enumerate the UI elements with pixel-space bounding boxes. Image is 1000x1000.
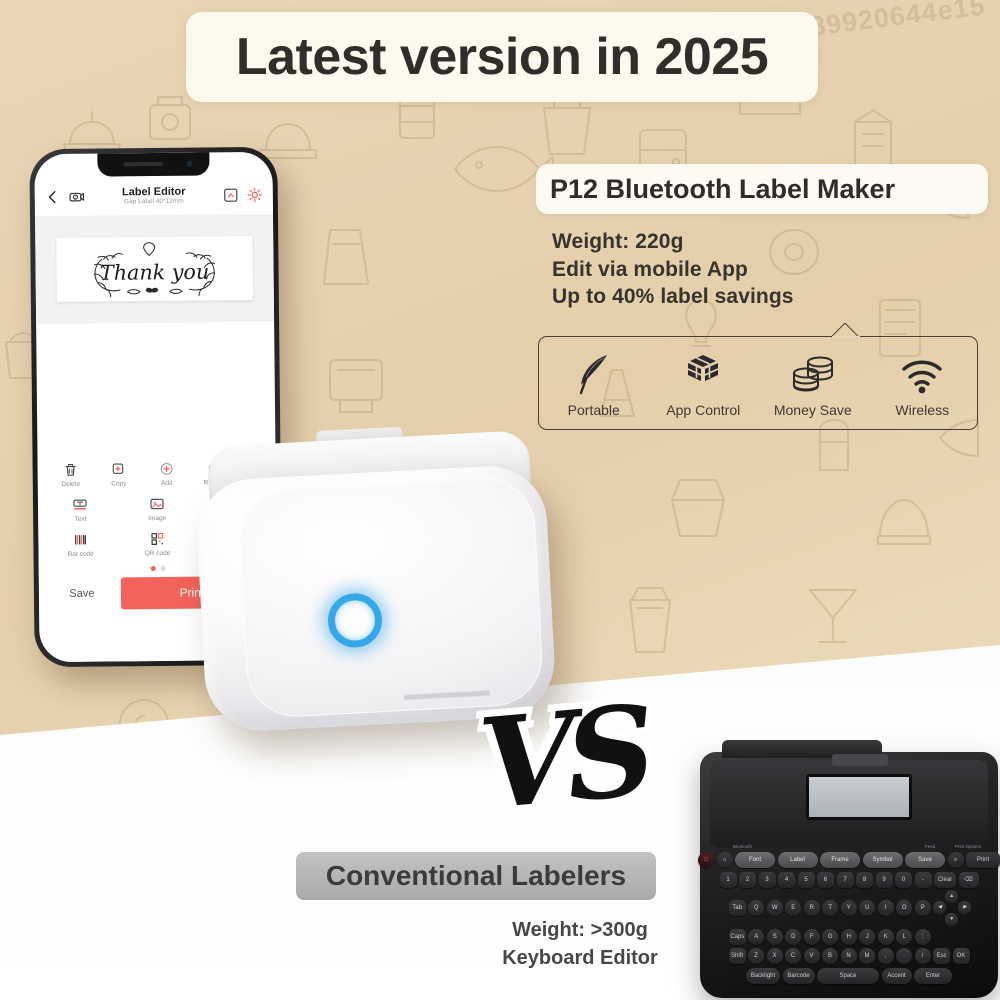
kb-micro-labels: Bluetooth Feed Print Options — [707, 844, 991, 852]
key-print[interactable]: Print — [966, 852, 1000, 868]
tool-delete[interactable]: Delete — [48, 462, 94, 488]
tool-label: Add — [161, 480, 173, 487]
headline-text: Latest version in 2025 — [236, 27, 768, 87]
kb-row-q: Tab Q W E R T Y U I O P ▲ ◀ ▶ ▼ — [707, 891, 991, 925]
plus-circle-icon — [159, 461, 175, 477]
key-num[interactable]: 0 — [895, 872, 912, 888]
key-letter[interactable]: A — [748, 929, 764, 945]
image-icon — [149, 496, 165, 512]
feature-box-notch — [831, 323, 861, 338]
key-letter[interactable]: H — [841, 929, 857, 945]
trash-icon — [63, 462, 79, 478]
text-icon — [72, 497, 88, 513]
spec-item: Edit via mobile App — [552, 256, 982, 284]
key-backlight[interactable]: Backlight — [746, 968, 780, 984]
key-caps[interactable]: Caps — [729, 929, 746, 945]
down-arrow-icon[interactable]: ▼ — [945, 913, 958, 926]
conventional-spec-item: Keyboard Editor — [420, 944, 740, 972]
phone-notch — [97, 152, 209, 176]
up-arrow-icon[interactable]: ▲ — [945, 890, 958, 903]
wifi-icon — [900, 349, 944, 395]
app-title-block: Label Editor Gap Label 40*12mm — [85, 185, 223, 206]
kb-row-a: Caps A S D F G H J K L : — [707, 929, 991, 945]
feature-money-save: Money Save — [759, 349, 867, 418]
conventional-spec-item: Weight: >300g — [420, 916, 740, 944]
tool-image[interactable]: Image — [134, 496, 180, 522]
key-num[interactable]: 2 — [739, 872, 756, 888]
feature-app-control: App Control — [649, 349, 757, 418]
key-shift[interactable]: Shift — [729, 948, 746, 964]
key-enter[interactable]: Enter — [914, 968, 952, 984]
kb-micro-print-options: Print Options — [955, 844, 981, 849]
feather-icon — [577, 349, 611, 395]
key-frame[interactable]: Frame — [820, 852, 860, 868]
feature-highlights-box: Portable App Control — [538, 336, 978, 430]
key-barcode[interactable]: Barcode — [783, 968, 815, 984]
key-letter[interactable]: F — [804, 929, 820, 945]
vs-badge: VS — [474, 679, 652, 838]
conventional-specs-list: Weight: >300g Keyboard Editor — [420, 916, 740, 972]
key-num[interactable]: 6 — [817, 872, 834, 888]
search-icon[interactable]: ⌕ — [948, 852, 964, 868]
key-num[interactable]: 7 — [837, 872, 854, 888]
key-slash[interactable]: / — [915, 948, 931, 964]
label-text: Thank you — [100, 260, 209, 285]
key-letter[interactable]: V — [804, 948, 820, 964]
feature-portable: Portable — [540, 349, 648, 418]
right-arrow-icon[interactable]: ▶ — [958, 901, 971, 914]
key-letter[interactable]: B — [822, 948, 838, 964]
key-letter[interactable]: Y — [841, 900, 857, 916]
feature-label: Money Save — [774, 402, 852, 418]
key-num[interactable]: 5 — [798, 872, 815, 888]
backspace-icon[interactable]: ⌫ — [959, 872, 979, 888]
key-letter[interactable]: X — [767, 948, 783, 964]
left-arrow-icon[interactable]: ◀ — [933, 901, 946, 914]
key-letter[interactable]: E — [785, 900, 801, 916]
key-clear[interactable]: Clear — [934, 872, 956, 888]
save-button[interactable]: Save — [53, 579, 111, 608]
kb-micro-bluetooth: Bluetooth — [733, 844, 752, 849]
key-save[interactable]: Save — [905, 852, 945, 868]
tool-barcode[interactable]: Bar code — [58, 532, 104, 558]
conventional-label-printer: Bluetooth Feed Print Options ⏻ ⌂ Font La… — [700, 752, 998, 998]
key-accent[interactable]: Accent — [882, 968, 912, 984]
key-letter[interactable]: O — [896, 900, 912, 916]
key-letter[interactable]: D — [785, 929, 801, 945]
kb-top-vent — [832, 754, 888, 766]
camera-icon[interactable] — [69, 189, 85, 205]
key-letter[interactable]: Q — [748, 900, 764, 916]
key-letter[interactable]: N — [841, 948, 857, 964]
chevron-left-icon[interactable] — [45, 189, 61, 205]
home-icon[interactable]: ⌂ — [717, 852, 733, 868]
barcode-icon — [73, 532, 89, 548]
cube-icon — [682, 349, 724, 395]
dpad[interactable]: ▲ ◀ ▶ ▼ — [935, 891, 969, 925]
p12-front-face — [237, 476, 545, 719]
feature-label: Wireless — [895, 402, 949, 418]
key-num[interactable]: 9 — [876, 872, 893, 888]
spec-item: Weight: 220g — [552, 228, 982, 256]
kb-micro-feed: Feed — [925, 844, 935, 849]
kb-bottom-row: Backlight Barcode Space Accent Enter — [707, 968, 991, 984]
key-letter[interactable]: J — [859, 929, 875, 945]
kb-number-row: 1 2 3 4 5 6 7 8 9 0 - Clear ⌫ — [707, 872, 991, 888]
key-space[interactable]: Space — [817, 968, 879, 984]
key-letter[interactable]: C — [785, 948, 801, 964]
headline-banner: Latest version in 2025 — [186, 12, 818, 102]
key-ok[interactable]: OK — [953, 948, 970, 964]
key-letter[interactable]: R — [804, 900, 820, 916]
product-specs-list: Weight: 220g Edit via mobile App Up to 4… — [552, 228, 982, 311]
key-colon[interactable]: : — [915, 929, 931, 945]
key-label[interactable]: Label — [778, 852, 818, 868]
conventional-banner: Conventional Labelers — [296, 852, 656, 900]
key-esc[interactable]: Esc — [933, 948, 950, 964]
key-num[interactable]: 8 — [856, 872, 873, 888]
tool-label: Bar code — [68, 551, 94, 558]
key-font[interactable]: Font — [735, 852, 775, 868]
poster-canvas: 5715289920644e15 Latest version in 2025 … — [0, 0, 1000, 1000]
kb-upper-shell — [710, 760, 988, 848]
feature-label: App Control — [666, 402, 740, 418]
key-num[interactable]: 4 — [778, 872, 795, 888]
key-comma[interactable]: , — [878, 948, 894, 964]
power-icon[interactable]: ⏻ — [698, 852, 714, 868]
key-period[interactable]: . — [896, 948, 912, 964]
page-dot — [160, 566, 165, 571]
copy-icon — [111, 461, 127, 477]
app-label-canvas[interactable]: Thank you — [35, 214, 274, 324]
tool-label: Delete — [61, 481, 80, 488]
key-letter[interactable]: L — [896, 929, 912, 945]
product-title: P12 Bluetooth Label Maker — [550, 174, 895, 205]
key-letter[interactable]: T — [822, 900, 838, 916]
key-num[interactable]: 3 — [759, 872, 776, 888]
key-symbol[interactable]: Symbol — [863, 852, 903, 868]
tool-qrcode[interactable]: QR code — [134, 531, 180, 557]
key-letter[interactable]: G — [822, 929, 838, 945]
tool-label: Text — [74, 516, 86, 523]
tool-label: Copy — [111, 480, 126, 487]
tool-add[interactable]: Add — [144, 461, 190, 487]
key-letter[interactable]: I — [878, 900, 894, 916]
tool-label: Image — [148, 515, 166, 522]
key-letter[interactable]: S — [767, 929, 783, 945]
key-letter[interactable]: K — [878, 929, 894, 945]
key-letter[interactable]: P — [915, 900, 931, 916]
key-tab[interactable]: Tab — [729, 900, 746, 916]
spec-item: Up to 40% label savings — [552, 283, 982, 311]
feature-label: Portable — [568, 402, 620, 418]
page-dot-active — [150, 566, 155, 571]
feature-wireless: Wireless — [868, 349, 976, 418]
kb-row-z: Shift Z X C V B N M , . / Esc OK — [707, 948, 991, 964]
qrcode-icon — [149, 531, 165, 547]
key-letter[interactable]: M — [859, 948, 875, 964]
tool-copy[interactable]: Copy — [96, 461, 142, 487]
template-icon[interactable] — [223, 187, 239, 203]
kb-keypad: ⏻ ⌂ Font Label Frame Symbol Save ⌕ Print… — [707, 852, 991, 986]
key-letter[interactable]: Z — [748, 948, 764, 964]
gear-icon[interactable] — [247, 187, 263, 203]
thank-you-wreath-artwork: Thank you — [59, 237, 250, 301]
app-top-bar: Label Editor Gap Label 40*12mm — [35, 178, 273, 214]
conventional-title: Conventional Labelers — [326, 860, 626, 892]
key-letter[interactable]: U — [859, 900, 875, 916]
key-num[interactable]: 1 — [720, 872, 737, 888]
kb-function-row: ⏻ ⌂ Font Label Frame Symbol Save ⌕ Print — [707, 852, 991, 868]
coins-icon — [790, 349, 836, 395]
tool-label: QR code — [145, 550, 171, 557]
app-subtitle: Gap Label 40*12mm — [85, 197, 223, 206]
key-letter[interactable]: W — [767, 900, 783, 916]
tool-text[interactable]: Text — [57, 497, 103, 523]
product-title-banner: P12 Bluetooth Label Maker — [536, 164, 988, 214]
label-preview-card: Thank you — [56, 236, 253, 302]
key-minus[interactable]: - — [915, 872, 932, 888]
kb-lcd-screen — [806, 774, 912, 820]
